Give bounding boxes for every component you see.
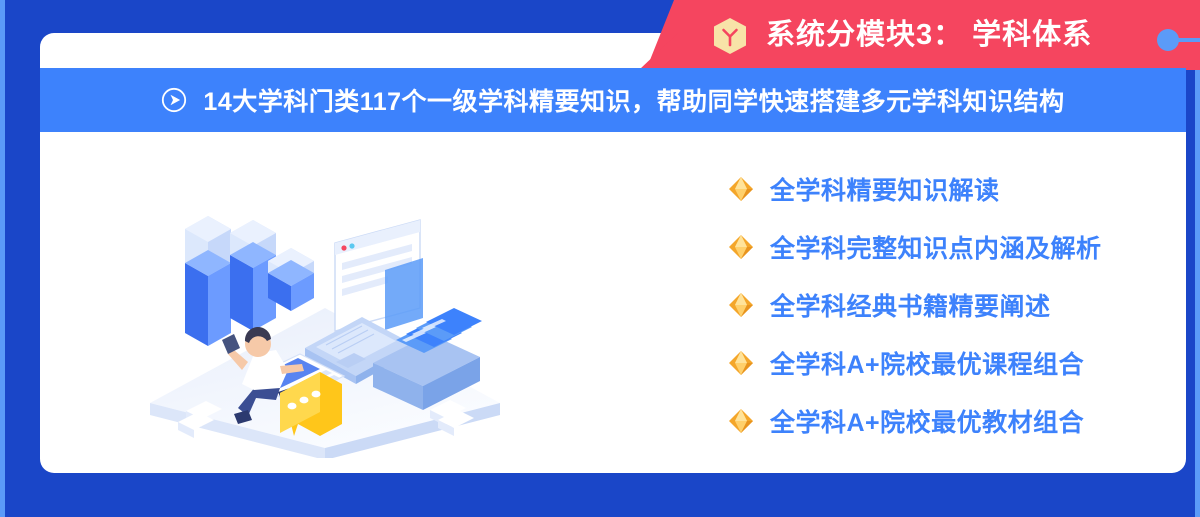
list-item-label: 全学科完整知识点内涵及解析 [770, 229, 1102, 265]
list-item-label: 全学科A+院校最优课程组合 [770, 345, 1084, 381]
left-edge-strip [0, 0, 5, 517]
right-edge-strip [1195, 0, 1200, 517]
list-item-label: 全学科精要知识解读 [770, 171, 1000, 207]
list-item: 全学科A+院校最优课程组合 [728, 334, 1168, 392]
list-item: 全学科完整知识点内涵及解析 [728, 218, 1168, 276]
list-item-label: 全学科A+院校最优教材组合 [770, 403, 1084, 439]
isometric-study-scene-illustration [130, 148, 520, 458]
play-circle-icon [161, 87, 187, 113]
list-item-label: 全学科经典书籍精要阐述 [770, 287, 1051, 323]
hexagon-y-icon [712, 17, 748, 55]
diamond-gem-icon [728, 408, 754, 434]
diamond-gem-icon [728, 350, 754, 376]
page-title: 系统分模块3： 学科体系 [766, 14, 1092, 56]
decoration-dot [1157, 29, 1179, 51]
diamond-gem-icon [728, 292, 754, 318]
subtitle-banner: 14大学科门类117个一级学科精要知识，帮助同学快速搭建多元学科知识结构 [40, 68, 1186, 132]
list-item: 全学科经典书籍精要阐述 [728, 276, 1168, 334]
list-item: 全学科精要知识解读 [728, 160, 1168, 218]
list-item: 全学科A+院校最优教材组合 [728, 392, 1168, 450]
dot-line-icon [1157, 29, 1200, 51]
diamond-gem-icon [728, 234, 754, 260]
promo-poster: 系统分模块3： 学科体系 14大学科门类117个一级学科精要知识，帮助同学快速搭… [0, 0, 1200, 517]
subtitle-text: 14大学科门类117个一级学科精要知识，帮助同学快速搭建多元学科知识结构 [203, 82, 1064, 118]
diamond-gem-icon [728, 176, 754, 202]
feature-list: 全学科精要知识解读 全学科完整知识点内涵及解析 [728, 160, 1168, 450]
